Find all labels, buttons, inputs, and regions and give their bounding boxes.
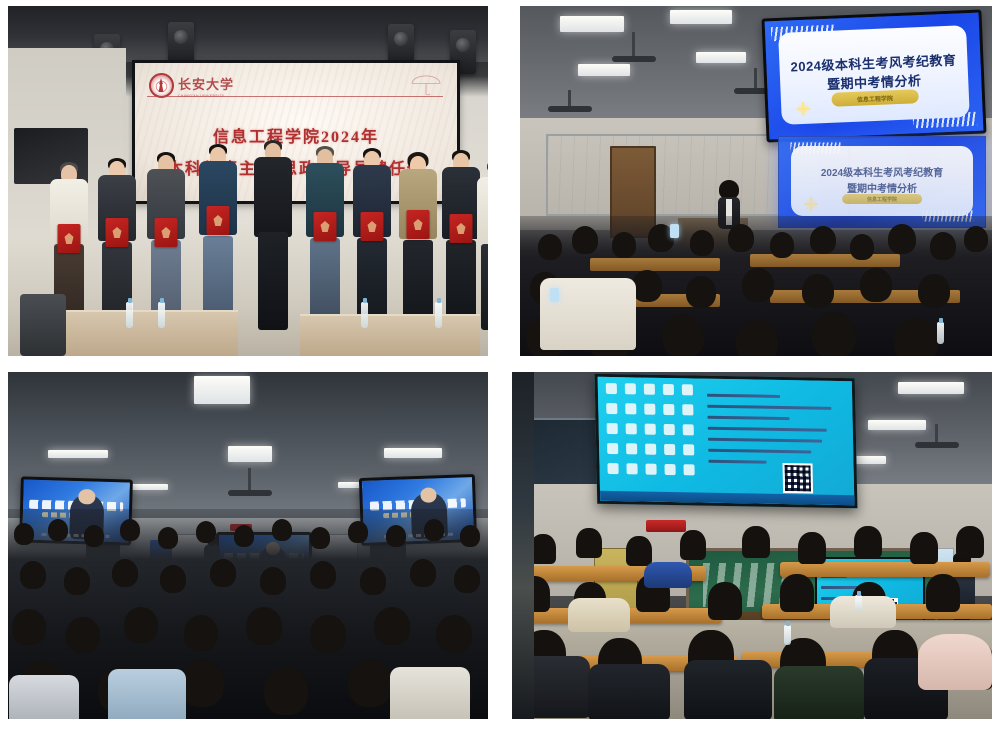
ceiling-fan-icon [754, 68, 757, 92]
person [246, 140, 300, 330]
water-bottle [937, 322, 944, 344]
ceiling-fan-icon [935, 424, 938, 446]
person [142, 152, 190, 330]
projected-slide: 2024级本科生考风考纪教育 暨期中考情分析 信息工程学院 [779, 137, 985, 227]
photo-panel-classroom-session [512, 372, 992, 719]
ceiling-fan-icon [248, 468, 251, 494]
university-logo: 长安大学 CHANG'AN UNIVERSITY [149, 73, 234, 98]
student-seating [512, 504, 992, 719]
sparkle-decoration-icon [804, 197, 818, 211]
hanging-display: 2024级本科生考风考纪教育 暨期中考情分析 信息工程学院 [762, 9, 987, 142]
water-bottle [158, 302, 165, 328]
photo-panel-certificate-ceremony: 长安大学 CHANG'AN UNIVERSITY 信息工程学院2024年 本科生… [8, 6, 488, 356]
certificate-folder [361, 212, 384, 241]
person [94, 158, 140, 330]
audience [520, 216, 992, 356]
ceiling-light [868, 420, 926, 430]
conference-table [38, 310, 238, 356]
photo-collage: 长安大学 CHANG'AN UNIVERSITY 信息工程学院2024年 本科生… [0, 0, 1000, 729]
person [192, 144, 244, 330]
certificate-folder [407, 210, 430, 239]
ceiling-light [578, 64, 630, 76]
wall-projection: 2024级本科生考风考纪教育 暨期中考情分析 信息工程学院 [778, 136, 986, 228]
slide-badge: 信息工程学院 [831, 90, 918, 107]
photo-edge-strip [512, 372, 534, 719]
university-seal-icon [149, 73, 174, 98]
certificate-folder [106, 218, 129, 247]
hanging-display [595, 374, 858, 509]
ceiling-light [128, 484, 168, 490]
certificate-folder [207, 206, 230, 235]
university-name-zh: 长安大学 [178, 77, 234, 92]
photo-panel-exam-discipline-lecture: 2024级本科生考风考纪教育 暨期中考情分析 信息工程学院 2024级本科生考风… [520, 6, 992, 356]
ceiling-light [194, 376, 250, 404]
desktop-icons [605, 383, 699, 491]
umbrella-decoration-icon [409, 71, 443, 99]
ceiling-fan-icon [568, 90, 571, 110]
ceiling-light [560, 16, 624, 32]
ceiling-light [696, 52, 746, 63]
person [300, 146, 350, 330]
ceiling-light [898, 382, 964, 394]
water-bottle [784, 625, 791, 645]
water-bottle [855, 595, 862, 611]
chair [20, 294, 66, 356]
certificate-folder [314, 212, 337, 241]
conference-table [300, 314, 480, 356]
water-bottle [361, 302, 368, 328]
qr-code-icon [783, 463, 814, 494]
ceiling-fan-icon [632, 32, 635, 60]
phone-screen [550, 288, 559, 302]
person [474, 160, 488, 330]
ceiling-light [228, 446, 272, 462]
audience-crowd [8, 509, 488, 719]
presentation-slide: 2024级本科生考风考纪教育 暨期中考情分析 信息工程学院 [765, 13, 984, 140]
water-bottle [435, 302, 442, 328]
projected-title-line-1: 2024级本科生考风考纪教育 [791, 164, 972, 179]
certificate-folder [58, 224, 81, 253]
certificate-folder [450, 214, 473, 243]
slide-text-lines [707, 394, 841, 473]
ceiling-light [384, 448, 442, 458]
person [348, 148, 396, 330]
projected-badge: 信息工程学院 [842, 194, 922, 204]
projected-title-line-2: 暨期中考情分析 [791, 180, 972, 195]
certificate-folder [155, 218, 178, 247]
ceiling-light [670, 10, 732, 24]
sparkle-decoration-icon [796, 102, 811, 117]
phone-screen [670, 224, 679, 238]
water-bottle [126, 302, 133, 328]
ceiling-light [48, 450, 108, 458]
photo-panel-large-hall-assembly [8, 372, 488, 719]
desktop-screen [598, 377, 855, 505]
divider [147, 96, 443, 97]
